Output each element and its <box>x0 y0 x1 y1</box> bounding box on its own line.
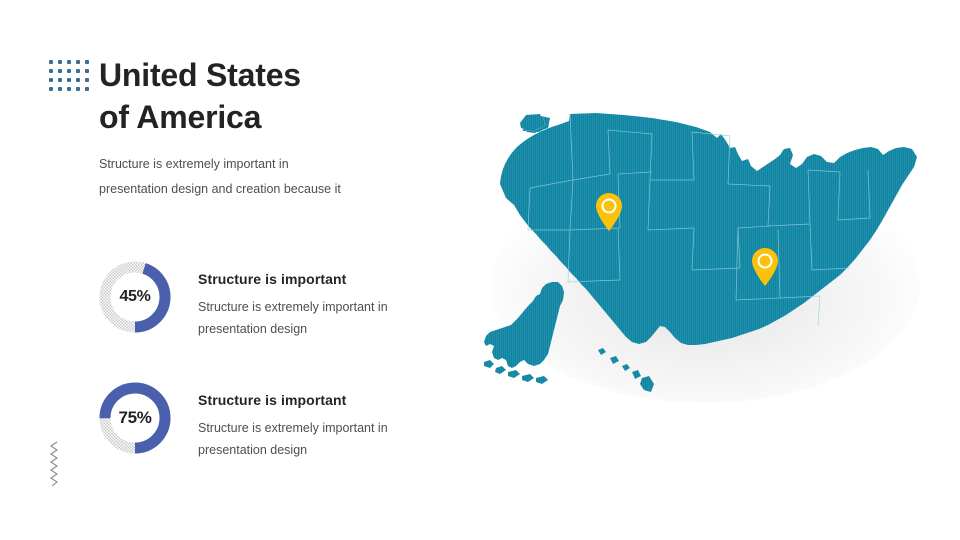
headline-block: United States of America Structure is ex… <box>99 54 499 202</box>
page-title-line-2: of America <box>99 96 499 138</box>
grid-dot <box>67 69 71 73</box>
grid-dot <box>76 69 80 73</box>
stat-description-line-2: presentation design <box>198 439 443 461</box>
stat-description: Structure is extremely important in pres… <box>198 296 443 340</box>
grid-dot <box>76 60 80 64</box>
donut-percent-label: 45% <box>96 258 174 336</box>
dot-grid-decoration <box>49 60 94 96</box>
grid-dot <box>67 87 71 91</box>
donut-chart-75: 75% <box>96 379 174 457</box>
stat-row: 75% Structure is important Structure is … <box>96 379 443 461</box>
page-title: United States of America <box>99 54 499 138</box>
stat-heading: Structure is important <box>198 392 443 408</box>
grid-dot <box>49 78 53 82</box>
donut-percent-label: 75% <box>96 379 174 457</box>
stat-heading: Structure is important <box>198 271 443 287</box>
stat-description-line-1: Structure is extremely important in <box>198 417 443 439</box>
stat-text-block: Structure is important Structure is extr… <box>198 379 443 461</box>
page-subtitle: Structure is extremely important in pres… <box>99 152 439 202</box>
stat-row: 45% Structure is important Structure is … <box>96 258 443 340</box>
grid-dot <box>58 78 62 82</box>
grid-dot <box>76 87 80 91</box>
grid-dot <box>85 60 89 64</box>
grid-dot <box>85 69 89 73</box>
grid-dot <box>85 87 89 91</box>
grid-dot <box>58 60 62 64</box>
grid-dot <box>85 78 89 82</box>
united-states-map <box>470 110 940 410</box>
stat-description-line-2: presentation design <box>198 318 443 340</box>
grid-dot <box>49 60 53 64</box>
grid-dot <box>58 87 62 91</box>
grid-dot <box>76 78 80 82</box>
zigzag-decoration <box>46 441 64 489</box>
page-subtitle-line-2: presentation design and creation because… <box>99 177 439 202</box>
grid-dot <box>67 78 71 82</box>
grid-dot <box>67 60 71 64</box>
donut-chart-45: 45% <box>96 258 174 336</box>
stat-description-line-1: Structure is extremely important in <box>198 296 443 318</box>
grid-dot <box>49 69 53 73</box>
map-panel <box>470 110 940 410</box>
grid-dot <box>49 87 53 91</box>
grid-dot <box>58 69 62 73</box>
page-title-line-1: United States <box>99 54 499 96</box>
stat-text-block: Structure is important Structure is extr… <box>198 258 443 340</box>
stat-description: Structure is extremely important in pres… <box>198 417 443 461</box>
page-subtitle-line-1: Structure is extremely important in <box>99 152 439 177</box>
